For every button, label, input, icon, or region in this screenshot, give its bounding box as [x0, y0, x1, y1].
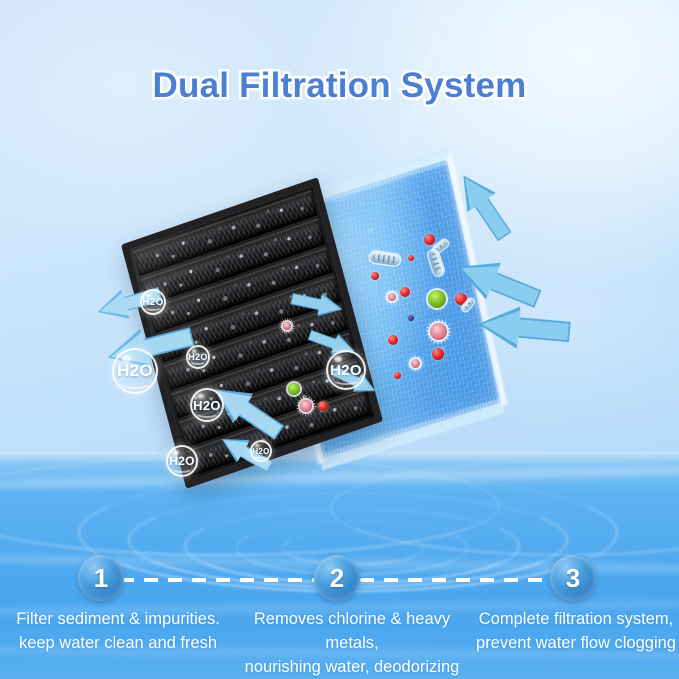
step-caption-3: Complete filtration system, prevent wate…: [474, 607, 678, 655]
step-caption-1: Filter sediment & impurities. keep water…: [6, 607, 230, 655]
step-badge-3: 3: [550, 555, 596, 601]
step-badge-1: 1: [78, 555, 124, 601]
steps-section: 1 2 3 Filter sediment & impurities. keep…: [0, 0, 679, 679]
step-caption-2: Removes chlorine & heavy metals, nourish…: [228, 607, 476, 679]
step-connector-1-2: [120, 578, 315, 582]
step-badge-2: 2: [314, 555, 360, 601]
infographic-stage: Dual Filtration System: [0, 0, 679, 679]
step-connector-2-3: [360, 578, 552, 582]
